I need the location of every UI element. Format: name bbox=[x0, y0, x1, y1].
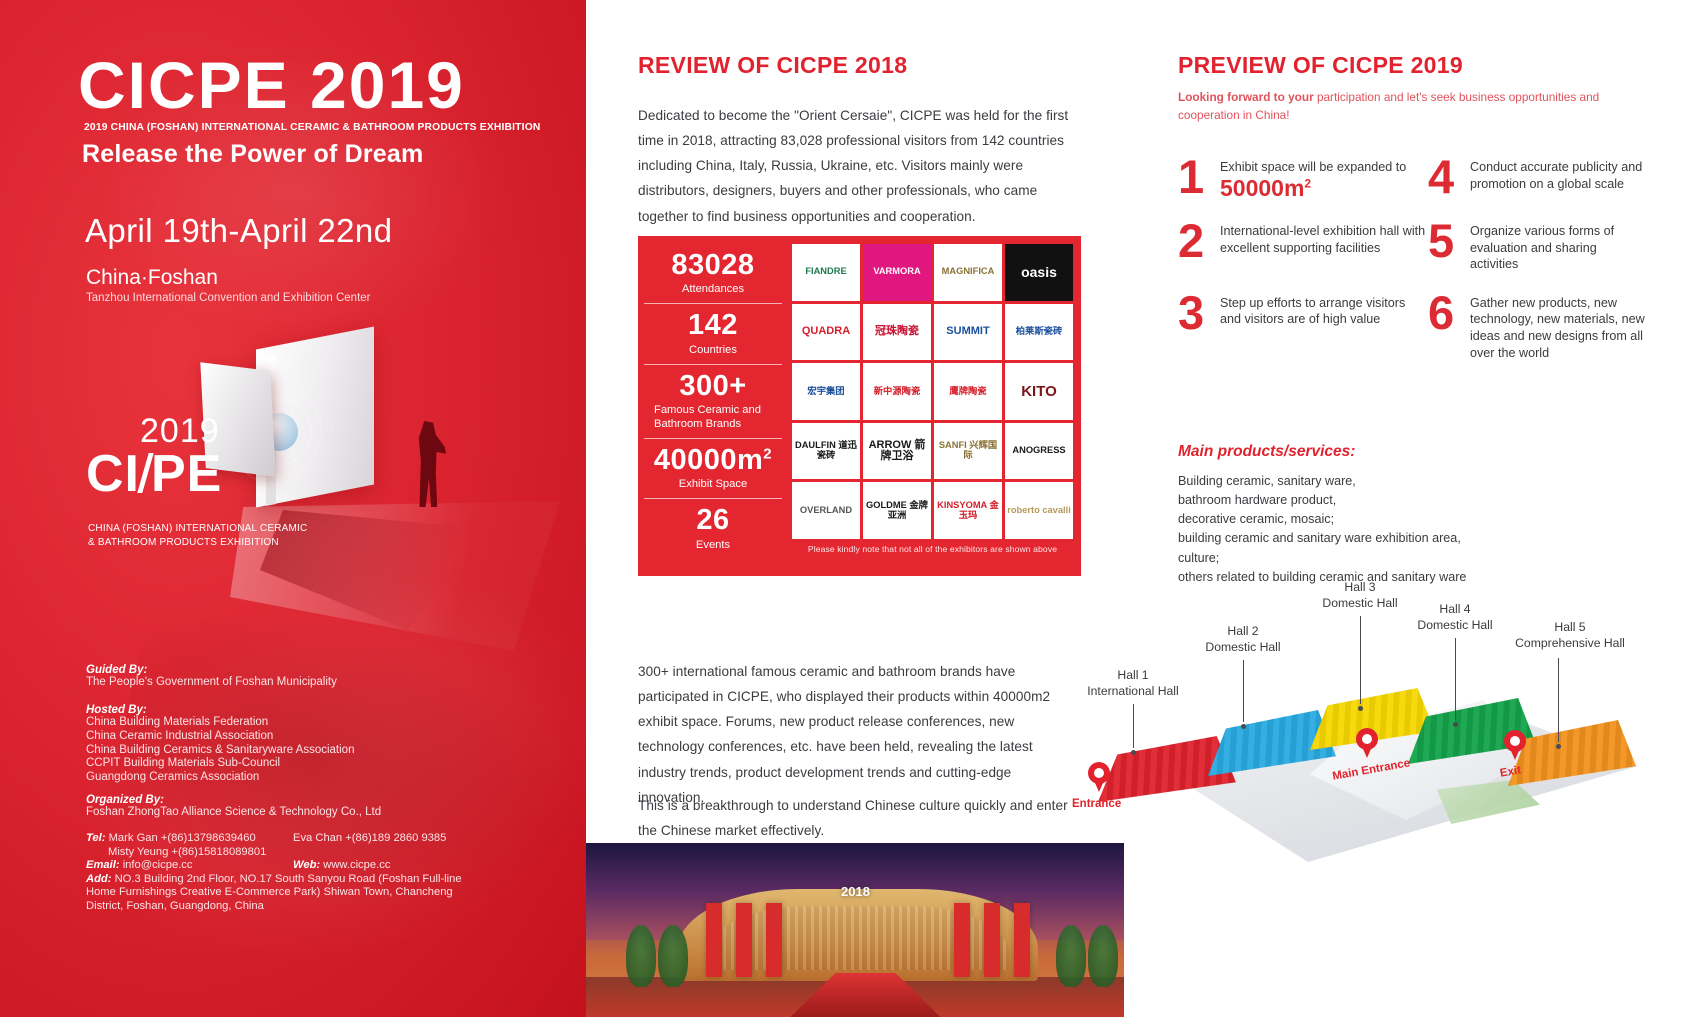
exhibitor-logo-label: 宏宇集团 bbox=[807, 387, 844, 397]
person-silhouette bbox=[412, 421, 446, 507]
product-line: culture; bbox=[1178, 549, 1638, 568]
feature-item-4: 4 Conduct accurate publicity and promoti… bbox=[1428, 155, 1648, 201]
exhibitor-logo: SUMMIT bbox=[934, 304, 1002, 361]
pin-tip bbox=[1360, 742, 1374, 758]
entrance-label: Entrance bbox=[1072, 798, 1121, 810]
feature-text: Step up efforts to arrange visitors and … bbox=[1220, 291, 1428, 328]
guided-by-block: Guided By: The People's Government of Fo… bbox=[86, 664, 337, 690]
exhibitor-logo: SANFI 兴辉国际 bbox=[934, 423, 1002, 480]
hosted-by-value-0: China Building Materials Federation bbox=[86, 716, 354, 730]
exhibitor-logo: 鹰牌陶瓷 bbox=[934, 363, 1002, 420]
exhibitor-logo-label: QUADRA bbox=[802, 326, 850, 338]
hosted-by-label: Hosted By: bbox=[86, 704, 354, 716]
contact-email-left: Email: info@cicpe.cc bbox=[86, 859, 293, 873]
web-label: Web: bbox=[293, 859, 320, 871]
stat-number: 26 bbox=[648, 505, 778, 536]
stat-number-sup: 2 bbox=[763, 445, 772, 462]
exhibitor-note: Please kindly note that not all of the e… bbox=[792, 544, 1073, 554]
stat-number: 83028 bbox=[648, 250, 778, 281]
exhibitor-logo: DAULFIN 道迅瓷砖 bbox=[792, 423, 860, 480]
main-products-list: Building ceramic, sanitary ware, bathroo… bbox=[1178, 472, 1638, 587]
web-value[interactable]: www.cicpe.cc bbox=[323, 859, 390, 871]
hall-dot-2 bbox=[1241, 724, 1246, 729]
hall-label-line1: Hall 3 bbox=[1295, 580, 1425, 596]
feature-highlight-sup: 2 bbox=[1304, 176, 1311, 190]
preview-heading: PREVIEW OF CICPE 2019 bbox=[1178, 52, 1463, 79]
exhibitor-logo-label: 鹰牌陶瓷 bbox=[949, 387, 986, 397]
exhibitor-logo: 柏莱斯瓷砖 bbox=[1005, 304, 1073, 361]
hosted-by-block: Hosted By: China Building Materials Fede… bbox=[86, 704, 354, 785]
hall-label-5: Hall 5 Comprehensive Hall bbox=[1490, 620, 1650, 651]
address-value: NO.3 Building 2nd Floor, NO.17 South San… bbox=[86, 873, 462, 912]
exhibitor-logo-label: ANOGRESS bbox=[1012, 446, 1065, 456]
exhibitor-logo: KITO bbox=[1005, 363, 1073, 420]
left-red-panel: CICPE 2019 2019 CHINA (FOSHAN) INTERNATI… bbox=[0, 0, 586, 1017]
hall-label-line1: Hall 1 bbox=[1068, 668, 1198, 684]
feature-number: 2 bbox=[1178, 219, 1220, 262]
feature-text: Organize various forms of evaluation and… bbox=[1470, 219, 1648, 273]
preview-lead-strong: Looking forward to your bbox=[1178, 90, 1317, 104]
stat-number: 300+ bbox=[648, 371, 778, 402]
middle-column: REVIEW OF CICPE 2018 Dedicated to become… bbox=[638, 0, 1088, 1017]
stat-number: 40000m bbox=[654, 444, 763, 476]
stat-label: Famous Ceramic and Bathroom Brands bbox=[648, 403, 778, 431]
stat-item: 142 Countries bbox=[644, 304, 782, 364]
review-paragraph-a: 300+ international famous ceramic and ba… bbox=[638, 659, 1078, 810]
contact-tel-row: Tel: Mark Gan +(86)13798639460 Eva Chan … bbox=[86, 832, 486, 846]
contact-web-left: Web: www.cicpe.cc bbox=[293, 859, 390, 873]
feature-item-6: 6 Gather new products, new technology, n… bbox=[1428, 291, 1648, 361]
exhibitor-logo: MAGNIFICA bbox=[934, 244, 1002, 301]
feature-text-wrap: Exhibit space will be expanded to 50000m… bbox=[1220, 155, 1406, 201]
organized-by-block: Organized By: Foshan ZhongTao Alliance S… bbox=[86, 794, 381, 820]
hall-leader-5 bbox=[1558, 658, 1559, 742]
hall-dot-3 bbox=[1358, 706, 1363, 711]
contact-block: Tel: Mark Gan +(86)13798639460 Eva Chan … bbox=[86, 832, 486, 913]
exhibitor-logo: 宏宇集团 bbox=[792, 363, 860, 420]
exhibitor-logo: 新中源陶瓷 bbox=[863, 363, 931, 420]
exhibitor-logo-label: 新中源陶瓷 bbox=[874, 387, 921, 397]
exhibitor-logo: QUADRA bbox=[792, 304, 860, 361]
cicpe-logo: CIPE bbox=[86, 444, 222, 504]
stat-label: Exhibit Space bbox=[648, 477, 778, 491]
stats-column: 83028 Attendances 142 Countries 300+ Fam… bbox=[638, 236, 788, 576]
feature-text: Exhibit space will be expanded to bbox=[1220, 160, 1406, 174]
exhibitor-logo-label: VARMORA bbox=[873, 267, 920, 277]
exhibitor-logo-label: SANFI 兴辉国际 bbox=[936, 441, 1000, 461]
pin-hole bbox=[1094, 768, 1104, 778]
tel-value-3[interactable]: Misty Yeung +(86)15818089801 bbox=[86, 846, 486, 860]
exhibitor-logo-label: MAGNIFICA bbox=[942, 267, 995, 277]
stat-number-group: 40000m2 bbox=[648, 445, 778, 476]
exhibitor-logo-label: DAULFIN 道迅瓷砖 bbox=[794, 441, 858, 461]
exhibitor-logo: OVERLAND bbox=[792, 482, 860, 539]
product-line: Building ceramic, sanitary ware, bbox=[1178, 472, 1638, 491]
feature-item-1: 1 Exhibit space will be expanded to 5000… bbox=[1178, 155, 1428, 201]
stat-item: 40000m2 Exhibit Space bbox=[644, 439, 782, 499]
exhibitor-logo: VARMORA bbox=[863, 244, 931, 301]
feature-number: 1 bbox=[1178, 155, 1220, 198]
stat-number: 142 bbox=[648, 310, 778, 341]
feature-number: 3 bbox=[1178, 291, 1220, 334]
hosted-by-value-4: Guangdong Ceramics Association bbox=[86, 771, 354, 785]
stat-label: Events bbox=[648, 538, 778, 552]
cicpe-logo-a: CI bbox=[86, 445, 140, 503]
hall-leader-4 bbox=[1455, 638, 1456, 720]
venue-hall-map: Hall 1 International Hall Hall 2 Domesti… bbox=[1060, 580, 1682, 880]
brand-subtitle: 2019 CHINA (FOSHAN) INTERNATIONAL CERAMI… bbox=[84, 122, 541, 133]
feature-number: 5 bbox=[1428, 219, 1470, 262]
hosted-by-value-3: CCPIT Building Materials Sub-Council bbox=[86, 757, 354, 771]
feature-item-3: 3 Step up efforts to arrange visitors an… bbox=[1178, 291, 1428, 361]
event-dates: April 19th-April 22nd bbox=[85, 212, 392, 250]
address-label: Add: bbox=[86, 873, 111, 885]
hall-label-line2: International Hall bbox=[1068, 684, 1198, 700]
exhibitor-logo-label: FIANDRE bbox=[805, 267, 846, 277]
exhibitor-logo-label: OVERLAND bbox=[800, 506, 852, 516]
logo-caption-line-2: & BATHROOM PRODUCTS EXHIBITION bbox=[88, 536, 307, 550]
exhibitor-logo: KINSYOMA 金玉玛 bbox=[934, 482, 1002, 539]
hall-label-line2: Domestic Hall bbox=[1178, 640, 1308, 656]
event-city: China·Foshan bbox=[86, 266, 218, 290]
entrance-pin-icon[interactable] bbox=[1088, 762, 1110, 792]
email-value[interactable]: info@cicpe.cc bbox=[123, 859, 193, 871]
review-intro: Dedicated to become the "Orient Cersaie"… bbox=[638, 103, 1078, 229]
hall-dot-1 bbox=[1131, 750, 1136, 755]
hall-leader-1 bbox=[1133, 704, 1134, 748]
tel-value-2[interactable]: Eva Chan +(86)189 2860 9385 bbox=[293, 832, 446, 846]
product-line: decorative ceramic, mosaic; bbox=[1178, 510, 1638, 529]
stat-item: 26 Events bbox=[644, 499, 782, 558]
feature-text: International-level exhibition hall with… bbox=[1220, 219, 1428, 256]
hall-label-line1: Hall 4 bbox=[1390, 602, 1520, 618]
event-venue: Tanzhou International Convention and Exh… bbox=[86, 292, 371, 304]
pin-hole bbox=[1362, 734, 1372, 744]
page-title: CICPE 2019 bbox=[78, 52, 465, 118]
hall-label-2: Hall 2 Domestic Hall bbox=[1178, 624, 1308, 655]
exhibitor-logo: FIANDRE bbox=[792, 244, 860, 301]
pin-hole bbox=[1510, 736, 1520, 746]
guided-by-value: The People's Government of Foshan Munici… bbox=[86, 676, 337, 690]
exhibitor-logo-label: 柏莱斯瓷砖 bbox=[1016, 327, 1063, 337]
organized-by-label: Organized By: bbox=[86, 794, 381, 806]
pin-tip bbox=[1092, 776, 1106, 792]
contact-email-row: Email: info@cicpe.cc Web: www.cicpe.cc bbox=[86, 859, 486, 873]
stat-label: Countries bbox=[648, 343, 778, 357]
exhibitor-logo-label: GOLDME 金牌亚洲 bbox=[865, 501, 929, 521]
hall-dot-5 bbox=[1556, 744, 1561, 749]
exhibitor-logo: GOLDME 金牌亚洲 bbox=[863, 482, 931, 539]
stat-item: 300+ Famous Ceramic and Bathroom Brands bbox=[644, 365, 782, 439]
exhibitor-logo: roberto cavalli bbox=[1005, 482, 1073, 539]
exhibitor-logo: oasis bbox=[1005, 244, 1073, 301]
hosted-by-value-1: China Ceramic Industrial Association bbox=[86, 730, 354, 744]
review-heading: REVIEW OF CICPE 2018 bbox=[638, 52, 907, 79]
logo-caption-line-1: CHINA (FOSHAN) INTERNATIONAL CERAMIC bbox=[88, 522, 307, 536]
exhibitor-logo-label: oasis bbox=[1021, 265, 1057, 280]
brochure-page: CICPE 2019 2019 CHINA (FOSHAN) INTERNATI… bbox=[0, 0, 1682, 1017]
product-line: building ceramic and sanitary ware exhib… bbox=[1178, 529, 1638, 548]
tel-value-1[interactable]: Mark Gan +(86)13798639460 bbox=[109, 832, 256, 844]
hosted-by-value-2: China Building Ceramics & Sanitaryware A… bbox=[86, 744, 354, 758]
exit-pin-icon[interactable] bbox=[1504, 730, 1526, 760]
guided-by-label: Guided By: bbox=[86, 664, 337, 676]
product-line: bathroom hardware product, bbox=[1178, 491, 1638, 510]
hall-label-line2: Comprehensive Hall bbox=[1490, 636, 1650, 652]
stats-and-exhibitors-card: 83028 Attendances 142 Countries 300+ Fam… bbox=[638, 236, 1081, 576]
hall-leader-3 bbox=[1360, 616, 1361, 704]
main-products-title: Main products/services: bbox=[1178, 443, 1355, 461]
contact-tel-left: Tel: Mark Gan +(86)13798639460 bbox=[86, 832, 293, 846]
hall-leader-2 bbox=[1243, 660, 1244, 722]
exhibitor-logo-label: KINSYOMA 金玉玛 bbox=[936, 501, 1000, 521]
cicpe-logo-b: PE bbox=[151, 445, 222, 503]
email-label: Email: bbox=[86, 859, 120, 871]
review-paragraph-b: This is a breakthrough to understand Chi… bbox=[638, 793, 1078, 843]
preview-lead: Looking forward to your participation an… bbox=[1178, 88, 1620, 125]
logo-caption: CHINA (FOSHAN) INTERNATIONAL CERAMIC & B… bbox=[88, 522, 307, 549]
exhibitor-logo-label: 冠珠陶瓷 bbox=[875, 326, 919, 338]
feature-number: 6 bbox=[1428, 291, 1470, 334]
feature-text: Gather new products, new technology, new… bbox=[1470, 291, 1648, 361]
hall-label-line1: Hall 2 bbox=[1178, 624, 1308, 640]
main-entrance-pin-icon[interactable] bbox=[1356, 728, 1378, 758]
brand-slogan: Release the Power of Dream bbox=[82, 140, 423, 169]
exhibitor-logo: 冠珠陶瓷 bbox=[863, 304, 931, 361]
feature-item-2: 2 International-level exhibition hall wi… bbox=[1178, 219, 1428, 273]
hall-dot-4 bbox=[1453, 722, 1458, 727]
feature-number: 4 bbox=[1428, 155, 1470, 198]
feature-highlight: 50000m2 bbox=[1220, 176, 1406, 201]
exhibitor-logo-label: KITO bbox=[1021, 384, 1057, 400]
exhibitor-logo-grid: FIANDRE VARMORA MAGNIFICA oasis QUADRA 冠… bbox=[792, 244, 1073, 539]
contact-address-row: Add: NO.3 Building 2nd Floor, NO.17 Sout… bbox=[86, 873, 486, 914]
stat-label: Attendances bbox=[648, 282, 778, 296]
photo-tree bbox=[1088, 925, 1118, 987]
exhibitor-logo-label: ARROW 箭牌卫浴 bbox=[865, 440, 929, 463]
exhibitor-logos-wrap: FIANDRE VARMORA MAGNIFICA oasis QUADRA 冠… bbox=[788, 236, 1081, 576]
stat-item: 83028 Attendances bbox=[644, 244, 782, 304]
exhibitor-logo: ARROW 箭牌卫浴 bbox=[863, 423, 931, 480]
pin-tip bbox=[1508, 744, 1522, 760]
feature-item-5: 5 Organize various forms of evaluation a… bbox=[1428, 219, 1648, 273]
feature-highlight-value: 50000m bbox=[1220, 175, 1304, 201]
hall-label-line1: Hall 5 bbox=[1490, 620, 1650, 636]
organized-by-value: Foshan ZhongTao Alliance Science & Techn… bbox=[86, 806, 381, 820]
exhibitor-logo: ANOGRESS bbox=[1005, 423, 1073, 480]
feature-list: 1 Exhibit space will be expanded to 5000… bbox=[1178, 155, 1648, 361]
hall-label-1: Hall 1 International Hall bbox=[1068, 668, 1198, 699]
feature-text: Conduct accurate publicity and promotion… bbox=[1470, 155, 1648, 192]
exhibitor-logo-label: SUMMIT bbox=[946, 326, 989, 338]
tel-label: Tel: bbox=[86, 832, 105, 844]
exhibitor-logo-label: roberto cavalli bbox=[1007, 506, 1071, 516]
